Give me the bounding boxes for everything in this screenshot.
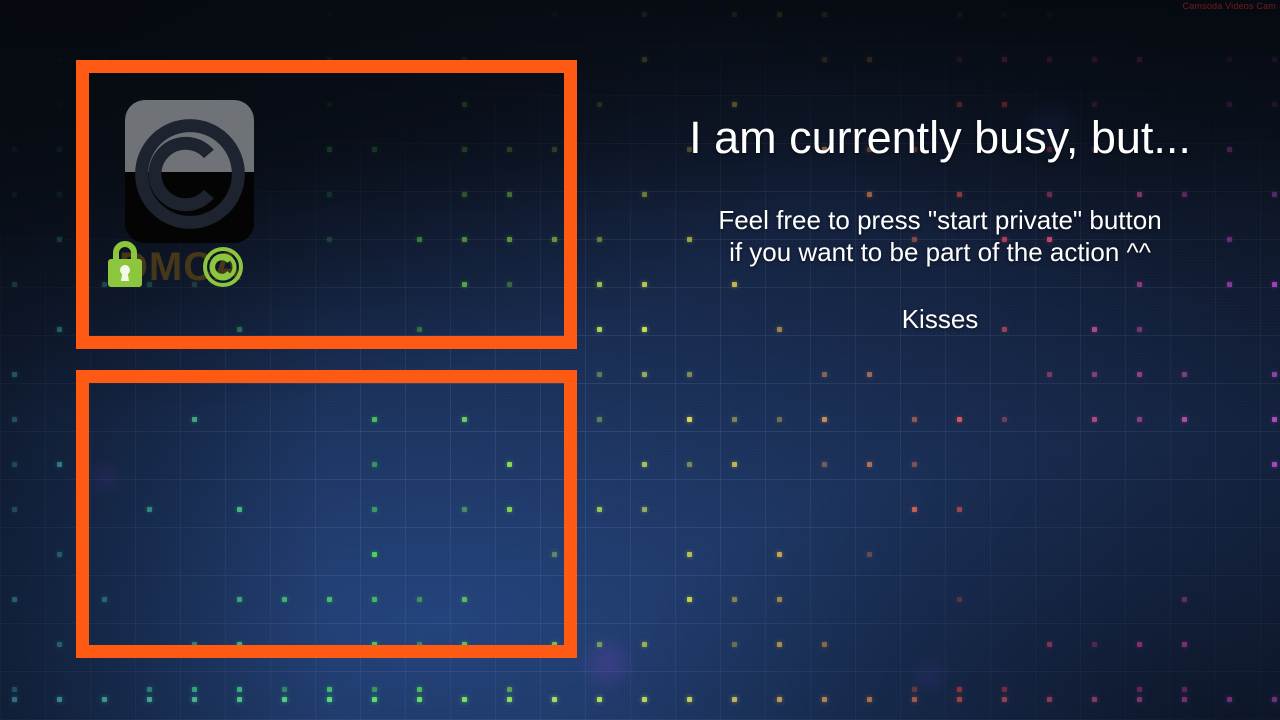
grid-node-dot <box>642 642 647 647</box>
grid-node-dot <box>597 697 602 702</box>
grid-node-dot <box>1092 697 1097 702</box>
grid-node-dot <box>642 372 647 377</box>
message-body-line-2: if you want to be part of the action ^^ <box>640 236 1240 268</box>
grid-node-dot <box>642 57 647 62</box>
grid-node-dot <box>552 12 557 17</box>
grid-node-dot <box>12 372 17 377</box>
grid-node-dot <box>1047 57 1052 62</box>
grid-node-dot <box>912 687 917 692</box>
grid-node-dot <box>1137 687 1142 692</box>
grid-node-dot <box>777 697 782 702</box>
grid-node-dot <box>687 552 692 557</box>
grid-node-dot <box>282 687 287 692</box>
grid-node-dot <box>1182 372 1187 377</box>
grid-node-dot <box>12 192 17 197</box>
grid-node-dot <box>1002 687 1007 692</box>
grid-node-dot <box>1092 417 1097 422</box>
grid-node-dot <box>597 102 602 107</box>
grid-node-dot <box>777 642 782 647</box>
grid-node-dot <box>57 192 62 197</box>
grid-node-dot <box>867 57 872 62</box>
grid-node-dot <box>687 372 692 377</box>
grid-node-dot <box>1137 57 1142 62</box>
grid-node-dot <box>1002 57 1007 62</box>
grid-node-dot <box>147 697 152 702</box>
grid-node-dot <box>777 12 782 17</box>
grid-node-dot <box>1272 192 1277 197</box>
grid-node-dot <box>507 687 512 692</box>
grid-node-dot <box>912 462 917 467</box>
grid-node-dot <box>777 417 782 422</box>
grid-node-dot <box>147 687 152 692</box>
grid-node-dot <box>462 697 467 702</box>
grid-node-dot <box>1182 687 1187 692</box>
grid-node-dot <box>507 697 512 702</box>
grid-node-dot <box>372 687 377 692</box>
copyright-app-icon <box>125 100 254 243</box>
grid-node-dot <box>192 12 197 17</box>
grid-node-dot <box>822 642 827 647</box>
grid-node-dot <box>867 552 872 557</box>
page-title: I am currently busy, but... <box>640 110 1240 166</box>
grid-node-dot <box>867 462 872 467</box>
grid-node-dot <box>552 697 557 702</box>
grid-node-dot <box>12 282 17 287</box>
dmca-badge: DMCA <box>105 235 295 297</box>
grid-node-dot <box>327 687 332 692</box>
grid-node-dot <box>237 687 242 692</box>
grid-node-dot <box>12 697 17 702</box>
grid-node-dot <box>957 417 962 422</box>
grid-node-dot <box>1227 102 1232 107</box>
grid-node-dot <box>822 372 827 377</box>
grid-node-dot <box>237 697 242 702</box>
grid-node-dot <box>912 507 917 512</box>
grid-node-dot <box>732 12 737 17</box>
grid-node-dot <box>687 597 692 602</box>
grid-node-dot <box>957 687 962 692</box>
grid-node-dot <box>282 697 287 702</box>
grid-node-dot <box>597 372 602 377</box>
grid-node-dot <box>417 687 422 692</box>
grid-node-dot <box>327 697 332 702</box>
grid-node-dot <box>1137 697 1142 702</box>
grid-node-dot <box>12 597 17 602</box>
grid-node-dot <box>822 12 827 17</box>
grid-node-dot <box>12 417 17 422</box>
grid-node-dot <box>957 57 962 62</box>
grid-node-dot <box>1047 697 1052 702</box>
grid-node-dot <box>957 597 962 602</box>
grid-node-dot <box>12 687 17 692</box>
grid-node-dot <box>1137 372 1142 377</box>
grid-node-dot <box>1092 372 1097 377</box>
grid-node-dot <box>1272 57 1277 62</box>
grid-node-dot <box>732 417 737 422</box>
grid-node-dot <box>912 697 917 702</box>
grid-node-dot <box>957 507 962 512</box>
grid-node-dot <box>1137 642 1142 647</box>
grid-node-dot <box>1137 417 1142 422</box>
copyright-glyph-icon <box>131 115 249 233</box>
grid-node-dot <box>1047 372 1052 377</box>
grid-node-dot <box>1272 282 1277 287</box>
grid-node-dot <box>597 417 602 422</box>
grid-node-dot <box>1182 642 1187 647</box>
grid-node-dot <box>687 697 692 702</box>
copyright-mark-icon <box>201 245 245 289</box>
grid-node-dot <box>732 102 737 107</box>
grid-node-dot <box>1227 697 1232 702</box>
grid-node-dot <box>1272 417 1277 422</box>
grid-node-dot <box>732 462 737 467</box>
grid-node-dot <box>1182 417 1187 422</box>
grid-node-dot <box>642 12 647 17</box>
grid-node-dot <box>1002 102 1007 107</box>
grid-node-dot <box>12 147 17 152</box>
grid-node-dot <box>192 697 197 702</box>
status-message: I am currently busy, but... Feel free to… <box>640 110 1240 334</box>
grid-node-dot <box>1272 372 1277 377</box>
grid-node-dot <box>822 462 827 467</box>
grid-node-dot <box>867 697 872 702</box>
grid-node-dot <box>57 462 62 467</box>
grid-node-dot <box>957 102 962 107</box>
grid-node-dot <box>687 417 692 422</box>
grid-node-dot <box>732 642 737 647</box>
grid-node-dot <box>1047 12 1052 17</box>
grid-node-dot <box>822 57 827 62</box>
grid-node-dot <box>57 697 62 702</box>
padlock-icon <box>105 238 145 288</box>
grid-node-dot <box>12 462 17 467</box>
grid-node-dot <box>417 697 422 702</box>
grid-node-dot <box>642 697 647 702</box>
grid-node-dot <box>1002 417 1007 422</box>
dmca-copyright-block: DMCA <box>105 100 405 300</box>
grid-node-dot <box>822 417 827 422</box>
grid-node-dot <box>1182 597 1187 602</box>
media-panel-bottom[interactable] <box>76 370 577 658</box>
grid-node-dot <box>1272 102 1277 107</box>
grid-node-dot <box>57 327 62 332</box>
grid-node-dot <box>687 462 692 467</box>
grid-node-dot <box>57 237 62 242</box>
grid-node-dot <box>912 417 917 422</box>
grid-node-dot <box>822 697 827 702</box>
grid-node-dot <box>957 697 962 702</box>
grid-node-dot <box>1182 697 1187 702</box>
grid-node-dot <box>1002 12 1007 17</box>
grid-node-dot <box>192 687 197 692</box>
screen-canvas: DMCA I am currently busy, but... Feel fr… <box>0 0 1280 720</box>
message-signoff: Kisses <box>640 304 1240 334</box>
grid-node-dot <box>102 697 107 702</box>
grid-node-dot <box>732 597 737 602</box>
grid-node-dot <box>1227 57 1232 62</box>
grid-node-dot <box>1047 642 1052 647</box>
grid-node-dot <box>1272 462 1277 467</box>
grid-node-dot <box>957 12 962 17</box>
grid-node-dot <box>1092 642 1097 647</box>
grid-node-dot <box>597 282 602 287</box>
grid-node-dot <box>57 552 62 557</box>
grid-node-dot <box>642 462 647 467</box>
grid-node-dot <box>327 12 332 17</box>
grid-node-dot <box>57 642 62 647</box>
grid-node-dot <box>1092 102 1097 107</box>
grid-node-dot <box>642 507 647 512</box>
grid-node-dot <box>732 697 737 702</box>
grid-node-dot <box>57 57 62 62</box>
grid-node-dot <box>57 147 62 152</box>
grid-node-dot <box>867 372 872 377</box>
grid-node-dot <box>777 597 782 602</box>
grid-node-dot <box>57 102 62 107</box>
message-body: Feel free to press "start private" butto… <box>640 204 1240 268</box>
grid-node-dot <box>1002 697 1007 702</box>
message-body-line-1: Feel free to press "start private" butto… <box>640 204 1240 236</box>
grid-node-dot <box>597 507 602 512</box>
grid-node-dot <box>777 552 782 557</box>
corner-watermark: Camsoda Videos Cam <box>1183 1 1276 12</box>
grid-node-dot <box>597 237 602 242</box>
grid-node-dot <box>12 507 17 512</box>
grid-node-dot <box>1092 57 1097 62</box>
grid-node-dot <box>597 327 602 332</box>
grid-node-dot <box>372 697 377 702</box>
grid-node-dot <box>597 642 602 647</box>
grid-node-dot <box>1272 697 1277 702</box>
